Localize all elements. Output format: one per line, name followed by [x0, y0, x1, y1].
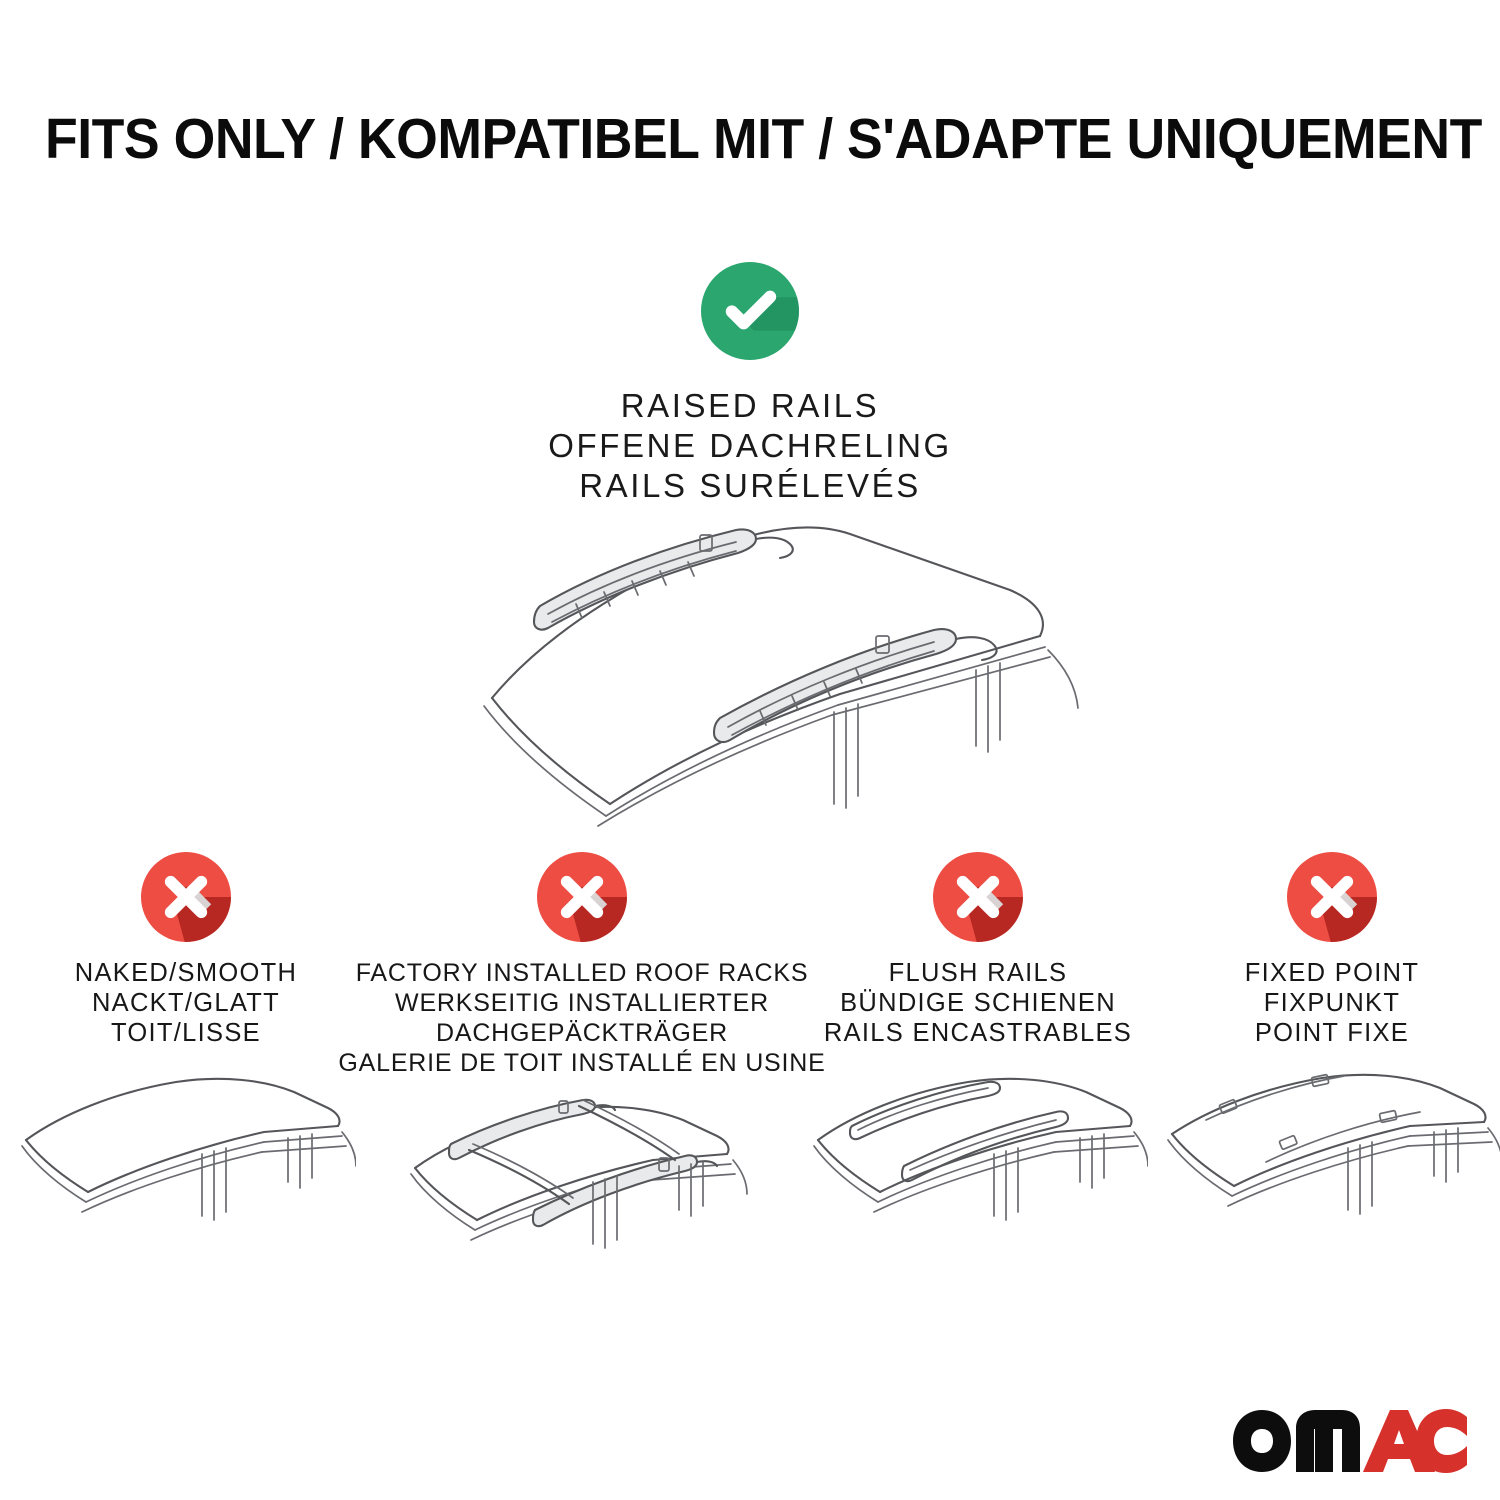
option-label-line: BÜNDIGE SCHIENEN [824, 988, 1132, 1018]
cross-circle-icon [1287, 852, 1377, 942]
option-label-line: TOIT/LISSE [75, 1018, 297, 1048]
incompatible-option-fixed-point: FIXED POINT FIXPUNKT POINT FIXE [1164, 852, 1500, 1277]
option-label-line: FLUSH RAILS [824, 958, 1132, 988]
page-title: FITS ONLY / KOMPATIBEL MIT / S'ADAPTE UN… [45, 106, 1455, 172]
option-label-line: RAILS ENCASTRABLES [824, 1018, 1132, 1048]
option-label-line: POINT FIXE [1245, 1018, 1419, 1048]
car-roof-naked-smooth-illustration [16, 1062, 356, 1277]
compatible-label-de: OFFENE DACHRELING [0, 426, 1500, 466]
omac-logo [1232, 1408, 1468, 1474]
incompatible-option-factory-roof-racks: FACTORY INSTALLED ROOF RACKS WERKSEITIG … [372, 852, 792, 1307]
compatible-label: RAISED RAILS OFFENE DACHRELING RAILS SUR… [0, 386, 1500, 506]
incompatible-option-naked-smooth: NAKED/SMOOTH NACKT/GLATT TOIT/LISSE [0, 852, 372, 1277]
option-label-line: GALERIE DE TOIT INSTALLÉ EN USINE [338, 1048, 825, 1078]
option-label-line: FACTORY INSTALLED ROOF RACKS [338, 958, 825, 988]
option-label: FIXED POINT FIXPUNKT POINT FIXE [1245, 958, 1419, 1048]
compatible-label-fr: RAILS SURÉLEVÉS [0, 466, 1500, 506]
option-label: NAKED/SMOOTH NACKT/GLATT TOIT/LISSE [75, 958, 297, 1048]
compatible-label-en: RAISED RAILS [0, 386, 1500, 426]
option-label-line: NACKT/GLATT [75, 988, 297, 1018]
option-label-line: FIXPUNKT [1245, 988, 1419, 1018]
car-roof-fixed-point-illustration [1162, 1062, 1500, 1277]
car-roof-raised-rails-illustration [400, 508, 1100, 838]
cross-circle-icon [141, 852, 231, 942]
option-label-line: NAKED/SMOOTH [75, 958, 297, 988]
car-roof-factory-roof-racks-illustration [407, 1092, 757, 1307]
car-roof-flush-rails-illustration [808, 1062, 1148, 1277]
cross-circle-icon [537, 852, 627, 942]
cross-circle-icon [933, 852, 1023, 942]
incompatible-option-flush-rails: FLUSH RAILS BÜNDIGE SCHIENEN RAILS ENCAS… [792, 852, 1164, 1277]
check-circle-icon [701, 262, 799, 360]
option-label-line: DACHGEPÄCKTRÄGER [338, 1018, 825, 1048]
option-label-line: FIXED POINT [1245, 958, 1419, 988]
option-label-line: WERKSEITIG INSTALLIERTER [338, 988, 825, 1018]
compatible-section: RAISED RAILS OFFENE DACHRELING RAILS SUR… [0, 262, 1500, 506]
option-label: FLUSH RAILS BÜNDIGE SCHIENEN RAILS ENCAS… [824, 958, 1132, 1048]
option-label: FACTORY INSTALLED ROOF RACKS WERKSEITIG … [338, 958, 825, 1078]
incompatible-section: NAKED/SMOOTH NACKT/GLATT TOIT/LISSE [0, 852, 1500, 1307]
